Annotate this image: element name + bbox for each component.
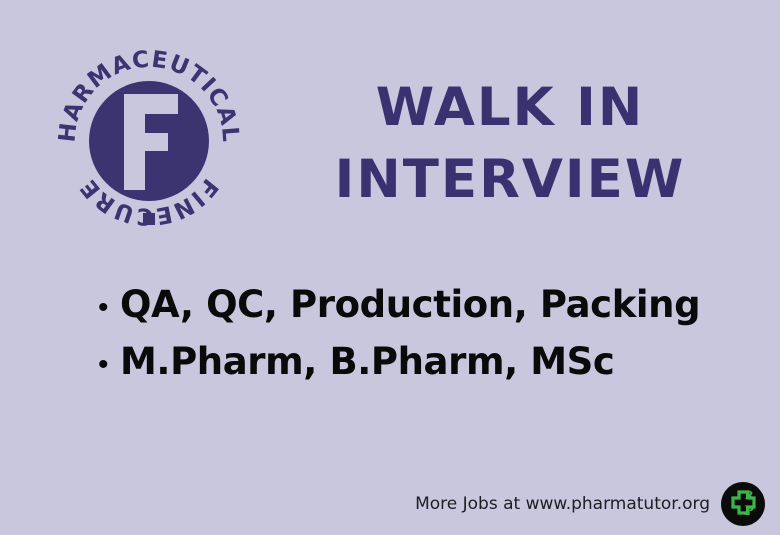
footer: More Jobs at www.pharmatutor.org R P [415,481,766,527]
headline-line-2: INTERVIEW [300,144,720,216]
requirements-list: • QA, QC, Production, Packing • M.Pharm,… [98,276,748,390]
logo-separator-dot [143,213,155,225]
badge-letter-r: R [744,489,754,502]
finecure-pharmaceuticals-logo: PHARMACEUTICALS FINECURE [58,50,240,232]
badge-circle [721,482,765,526]
list-item-label: QA, QC, Production, Packing [120,276,700,333]
poster-canvas: PHARMACEUTICALS FINECURE WALK IN INTERVI… [0,0,780,535]
list-item: • QA, QC, Production, Packing [98,276,748,333]
bullet-marker-icon: • [98,336,120,393]
footer-credit-text: More Jobs at www.pharmatutor.org [415,494,710,514]
badge-letter-p: P [744,504,754,519]
headline-line-1: WALK IN [300,72,720,144]
pharmatutor-badge: R P [720,481,766,527]
list-item-label: M.Pharm, B.Pharm, MSc [120,333,614,390]
page-title: WALK IN INTERVIEW [300,72,720,216]
bullet-marker-icon: • [98,279,120,336]
list-item: • M.Pharm, B.Pharm, MSc [98,333,748,390]
